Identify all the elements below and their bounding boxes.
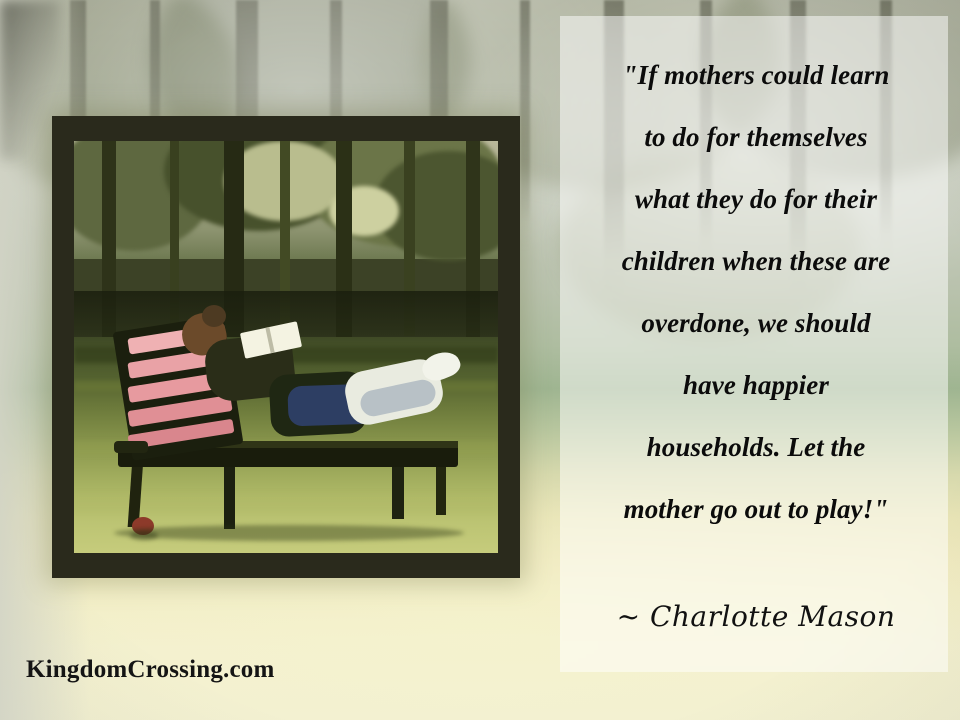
quote-attribution: ~ Charlotte Mason <box>570 600 942 633</box>
photo-image <box>74 141 498 553</box>
quote-line: "If mothers could learn <box>570 44 942 106</box>
figure-hair <box>202 305 226 327</box>
bench-armrest <box>114 441 148 453</box>
bench-leg <box>224 463 235 529</box>
quote-line: to do for themselves <box>570 106 942 168</box>
quote-image-canvas: "If mothers could learn to do for themse… <box>0 0 960 720</box>
quote-line: mother go out to play!" <box>570 478 942 540</box>
watermark: KingdomCrossing.com <box>26 656 275 684</box>
quote-line: overdone, we should <box>570 292 942 354</box>
bench-leg <box>436 459 446 515</box>
quote-line: have happier <box>570 354 942 416</box>
corner-shadow <box>0 0 60 160</box>
quote-line: children when these are <box>570 230 942 292</box>
quote-line: households. Let the <box>570 416 942 478</box>
photo-frame <box>52 116 520 578</box>
quote-text: "If mothers could learn to do for themse… <box>570 44 942 540</box>
bench-shadow <box>114 525 464 541</box>
quote-line: what they do for their <box>570 168 942 230</box>
